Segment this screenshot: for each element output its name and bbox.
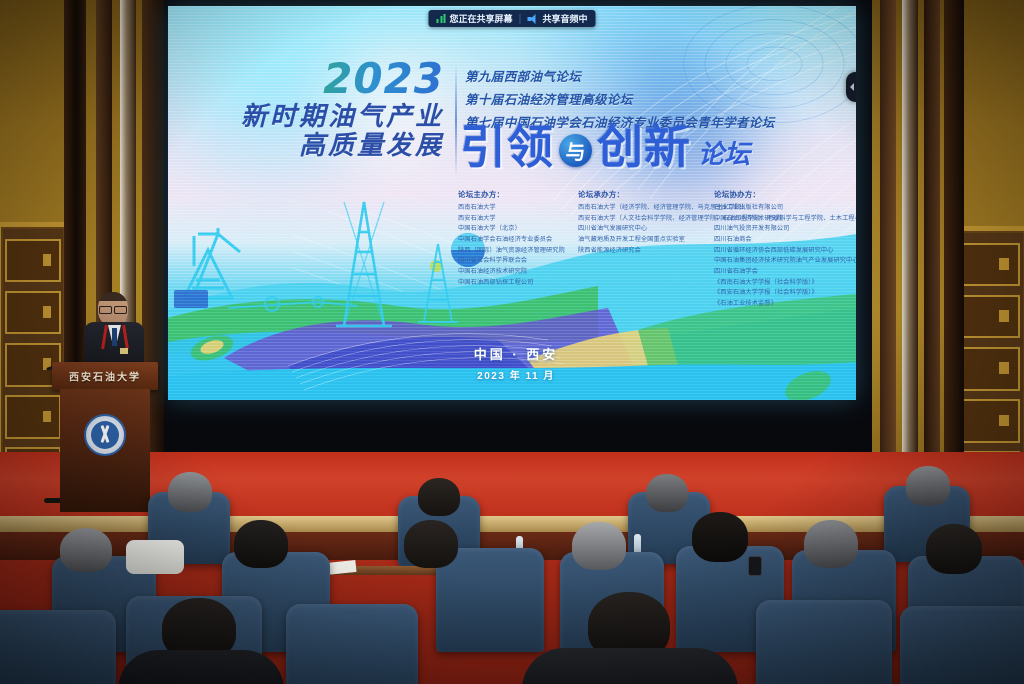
slide-location-block: 中国 · 西安 2023 年 11 月 (468, 344, 564, 382)
audience-head (572, 522, 626, 570)
organizer-item: 四川油气投资开发有限公司 (714, 224, 854, 235)
audience-head (60, 528, 112, 572)
audience-shoulders (118, 650, 284, 684)
presenter-tie (112, 328, 117, 346)
organizer-item: 中国石油西部钻探工程公司 (458, 278, 562, 289)
conference-slide: 2023 新时期油气产业 高质量发展 第九届西部油气论坛 第十届石油经济管理高级… (168, 6, 856, 400)
share-screen-label: 您正在共享屏幕 (449, 12, 512, 25)
audience-head (404, 520, 458, 568)
organizer-item: 四川省油气发展研究中心 (578, 224, 698, 235)
organizer-heading: 论坛主办方： (458, 189, 562, 200)
headline-conjunction-badge: 与 (559, 134, 592, 167)
organizer-item: 《石油工业技术监督》 (714, 299, 854, 310)
organizer-item: 油气藏地质及开发工程全国重点实验室 (578, 235, 698, 246)
organizer-list: 石油工业出版社有限公司 中国石油经济技术研究院 四川油气投资开发有限公司 四川石… (714, 203, 854, 310)
wall-mullion (880, 0, 896, 470)
audience-head (692, 512, 748, 562)
pill-divider (520, 14, 521, 24)
wall-mullion (924, 0, 940, 470)
podium-top: 西安石油大学 (52, 362, 158, 390)
share-audio-label: 共享音频中 (543, 12, 588, 25)
door-inlay (5, 291, 60, 335)
organizer-item: 西安石油大学（人文社会科学学院、经济管理学院、石油工程学院、地球科学与工程学院、… (578, 214, 698, 225)
organizer-item: 西南石油大学 (458, 203, 562, 214)
conference-room-screenshot: 2023 新时期油气产业 高质量发展 第九届西部油气论坛 第十届石油经济管理高级… (0, 0, 1024, 684)
audience-head (906, 466, 950, 506)
organizer-item: 陕西省能源经济研究会 (578, 246, 698, 257)
slide-title-line2: 高质量发展 (194, 132, 444, 158)
organizer-item: 中国石油学会石油经济专业委员会 (458, 235, 562, 246)
slide-title-block: 2023 新时期油气产业 高质量发展 (194, 58, 444, 158)
audience-head (804, 520, 858, 568)
signal-bars-icon (436, 14, 445, 23)
forum-item: 第九届西部油气论坛 (465, 66, 775, 85)
forum-item: 第十届石油经济管理高级论坛 (465, 89, 775, 108)
podium: 西安石油大学 (56, 362, 154, 512)
door-inlay (954, 399, 1019, 443)
slide-year: 2023 (194, 58, 444, 100)
audience-head (234, 520, 288, 568)
door-inlay (5, 395, 60, 439)
audience-chair (286, 604, 418, 684)
wall-mullion (944, 0, 964, 520)
organizer-item: 中国石油集团经济技术研究院油气产业发展研究中心 (714, 256, 854, 267)
glasses-icon (99, 306, 127, 312)
wall-mullion (902, 0, 918, 470)
organizer-heading: 论坛承办方： (578, 189, 698, 200)
organizer-column-supporter: 论坛协办方： 石油工业出版社有限公司 中国石油经济技术研究院 四川油气投资开发有… (714, 189, 854, 310)
audience-head (418, 478, 460, 516)
headline-suffix: 论坛 (698, 134, 750, 171)
share-screen-status: 您正在共享屏幕 (436, 12, 512, 25)
collapse-panel-tab[interactable] (846, 72, 856, 102)
organizer-item: 四川省循环经济协会西部低碳发展研究中心 (714, 246, 854, 257)
audience-chair (0, 610, 116, 684)
organizer-item: 四川省社会科学界联合会 (458, 256, 562, 267)
podium-label: 西安石油大学 (69, 369, 141, 384)
audience-chair (756, 600, 892, 684)
slide-location: 中国 · 西安 (468, 344, 564, 363)
audience-chair (900, 606, 1024, 684)
screen-share-indicator[interactable]: 您正在共享屏幕 共享音频中 (428, 10, 595, 27)
share-audio-status: 共享音频中 (528, 12, 588, 25)
audience-head (926, 524, 982, 574)
organizer-list: 西南石油大学 西安石油大学 中国石油大学（北京） 中国石油学会石油经济专业委员会… (458, 203, 562, 288)
organizer-item: 中国石油大学（北京） (458, 224, 562, 235)
projection-screen: 2023 新时期油气产业 高质量发展 第九届西部油气论坛 第十届石油经济管理高级… (168, 6, 856, 400)
emblem-inner (91, 421, 119, 449)
title-divider (455, 64, 457, 176)
organizer-item: 四川石油商会 (714, 235, 854, 246)
headline-word-lead: 引领 (460, 124, 554, 170)
presenter-badge (120, 348, 128, 354)
door-inlay (954, 243, 1019, 287)
presenter (84, 292, 144, 368)
organizer-column-host: 论坛主办方： 西南石油大学 西安石油大学 中国石油大学（北京） 中国石油学会石油… (458, 189, 562, 310)
organizer-item: 中国石油经济技术研究院 (458, 267, 562, 278)
slide-date: 2023 年 11 月 (468, 367, 564, 382)
door-inlay (954, 347, 1019, 391)
door-inlay (954, 295, 1019, 339)
organizer-item: 《西南石油大学学报（社会科学版）》 (714, 278, 854, 289)
organizer-item: 陕西（国际）油气资源经济管理研究院 (458, 246, 562, 257)
university-emblem-icon (84, 414, 126, 456)
organizer-item: 四川省石油学会 (714, 267, 854, 278)
slide-title-line1: 新时期油气产业 (194, 103, 444, 129)
audience-head (168, 472, 212, 512)
speaker-icon (528, 14, 539, 24)
organizer-list: 西南石油大学（经济学院、经济管理学院、马克思主义学院） 西安石油大学（人文社会科… (578, 203, 698, 256)
organizer-item: 中国石油经济技术研究院 (714, 214, 854, 225)
audience-head (646, 474, 688, 512)
slide-headline: 引领 与 创新 论坛 (460, 124, 750, 171)
organizer-heading: 论坛协办方： (714, 189, 854, 200)
organizer-column-coorganizer: 论坛承办方： 西南石油大学（经济学院、经济管理学院、马克思主义学院） 西安石油大… (578, 189, 698, 310)
tote-bag (126, 540, 184, 574)
headline-word-innovate: 创新 (597, 124, 691, 170)
organizer-item: 石油工业出版社有限公司 (714, 203, 854, 214)
chevron-left-icon (850, 83, 854, 91)
organizer-item: 西安石油大学 (458, 214, 562, 225)
audience-shoulders (522, 648, 738, 684)
audience-chair (436, 548, 544, 652)
smartphone (748, 556, 762, 576)
organizer-item: 西南石油大学（经济学院、经济管理学院、马克思主义学院） (578, 203, 698, 214)
door-inlay (5, 239, 60, 283)
organizer-item: 《西安石油大学学报（社会科学版）》 (714, 288, 854, 299)
organizer-columns: 论坛主办方： 西南石油大学 西安石油大学 中国石油大学（北京） 中国石油学会石油… (458, 189, 842, 310)
